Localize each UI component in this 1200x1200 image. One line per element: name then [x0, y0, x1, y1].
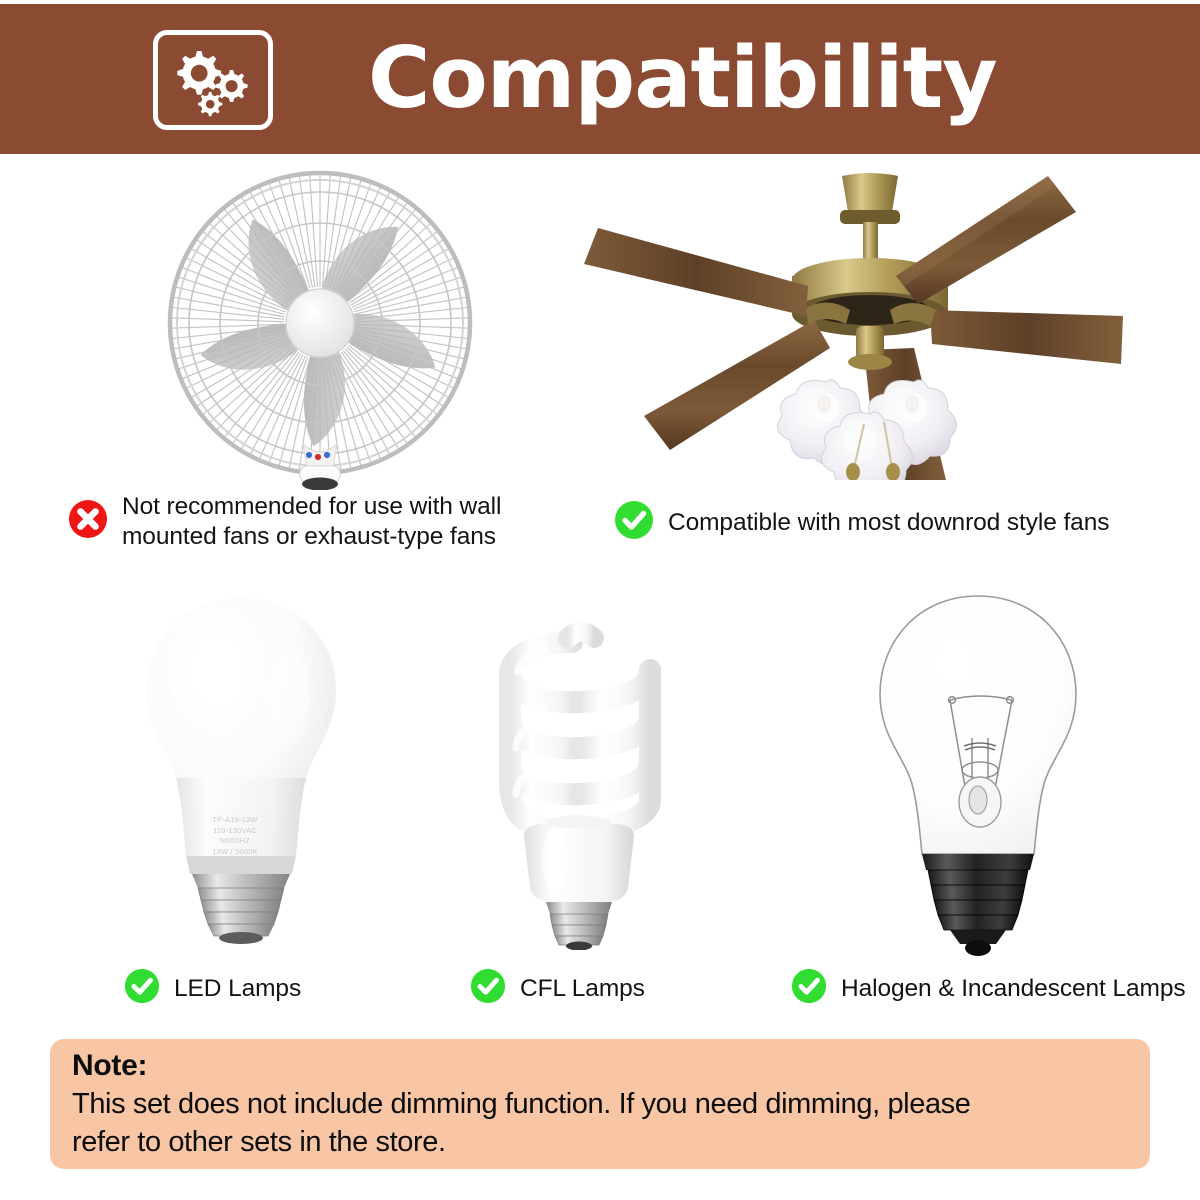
note-box: Note: This set does not include dimming …: [50, 1039, 1150, 1169]
led-printed-spec: TP-A19-13W 110-130VAC 50/60HZ 13W / 5000…: [180, 815, 290, 858]
check-icon: [124, 968, 160, 1009]
led-lamp-image: [128, 588, 354, 944]
led-spec-line-3: 50/60HZ: [180, 836, 290, 847]
incandescent-lamp-caption: Halogen & Incandescent Lamps: [791, 968, 1186, 1009]
led-spec-line-2: 110-130VAC: [180, 826, 290, 837]
wall-fan-image: [148, 168, 498, 490]
led-spec-line-1: TP-A19-13W: [180, 815, 290, 826]
led-lamp-label: LED Lamps: [174, 974, 301, 1004]
cfl-lamp-caption: CFL Lamps: [470, 968, 645, 1009]
check-icon: [791, 968, 827, 1009]
note-title: Note:: [72, 1047, 1128, 1085]
ceiling-fan-caption: Compatible with most downrod style fans: [614, 500, 1174, 545]
gears-icon: [165, 39, 261, 121]
note-body: This set does not include dimming functi…: [72, 1086, 1128, 1161]
ceiling-fan-image: [578, 168, 1123, 480]
check-icon: [614, 500, 654, 545]
incandescent-lamp-label: Halogen & Incandescent Lamps: [841, 974, 1186, 1004]
gears-icon-frame: [153, 30, 273, 130]
cross-icon: [68, 499, 108, 544]
wall-fan-caption: Not recommended for use with wall mounte…: [68, 492, 578, 552]
cfl-lamp-image: [484, 614, 674, 950]
wall-fan-caption-text: Not recommended for use with wall mounte…: [122, 492, 501, 552]
incandescent-lamp-image: [872, 588, 1084, 960]
header-banner: Compatibility: [0, 4, 1200, 154]
page-title: Compatibility: [368, 18, 1068, 140]
note-body-line-1: This set does not include dimming functi…: [72, 1088, 971, 1120]
led-spec-line-4: 13W / 5000K: [180, 847, 290, 858]
ceiling-fan-caption-text: Compatible with most downrod style fans: [668, 508, 1109, 538]
led-lamp-caption: LED Lamps: [124, 968, 301, 1009]
note-body-line-2: refer to other sets in the store.: [72, 1126, 446, 1158]
cfl-lamp-label: CFL Lamps: [520, 974, 645, 1004]
check-icon: [470, 968, 506, 1009]
